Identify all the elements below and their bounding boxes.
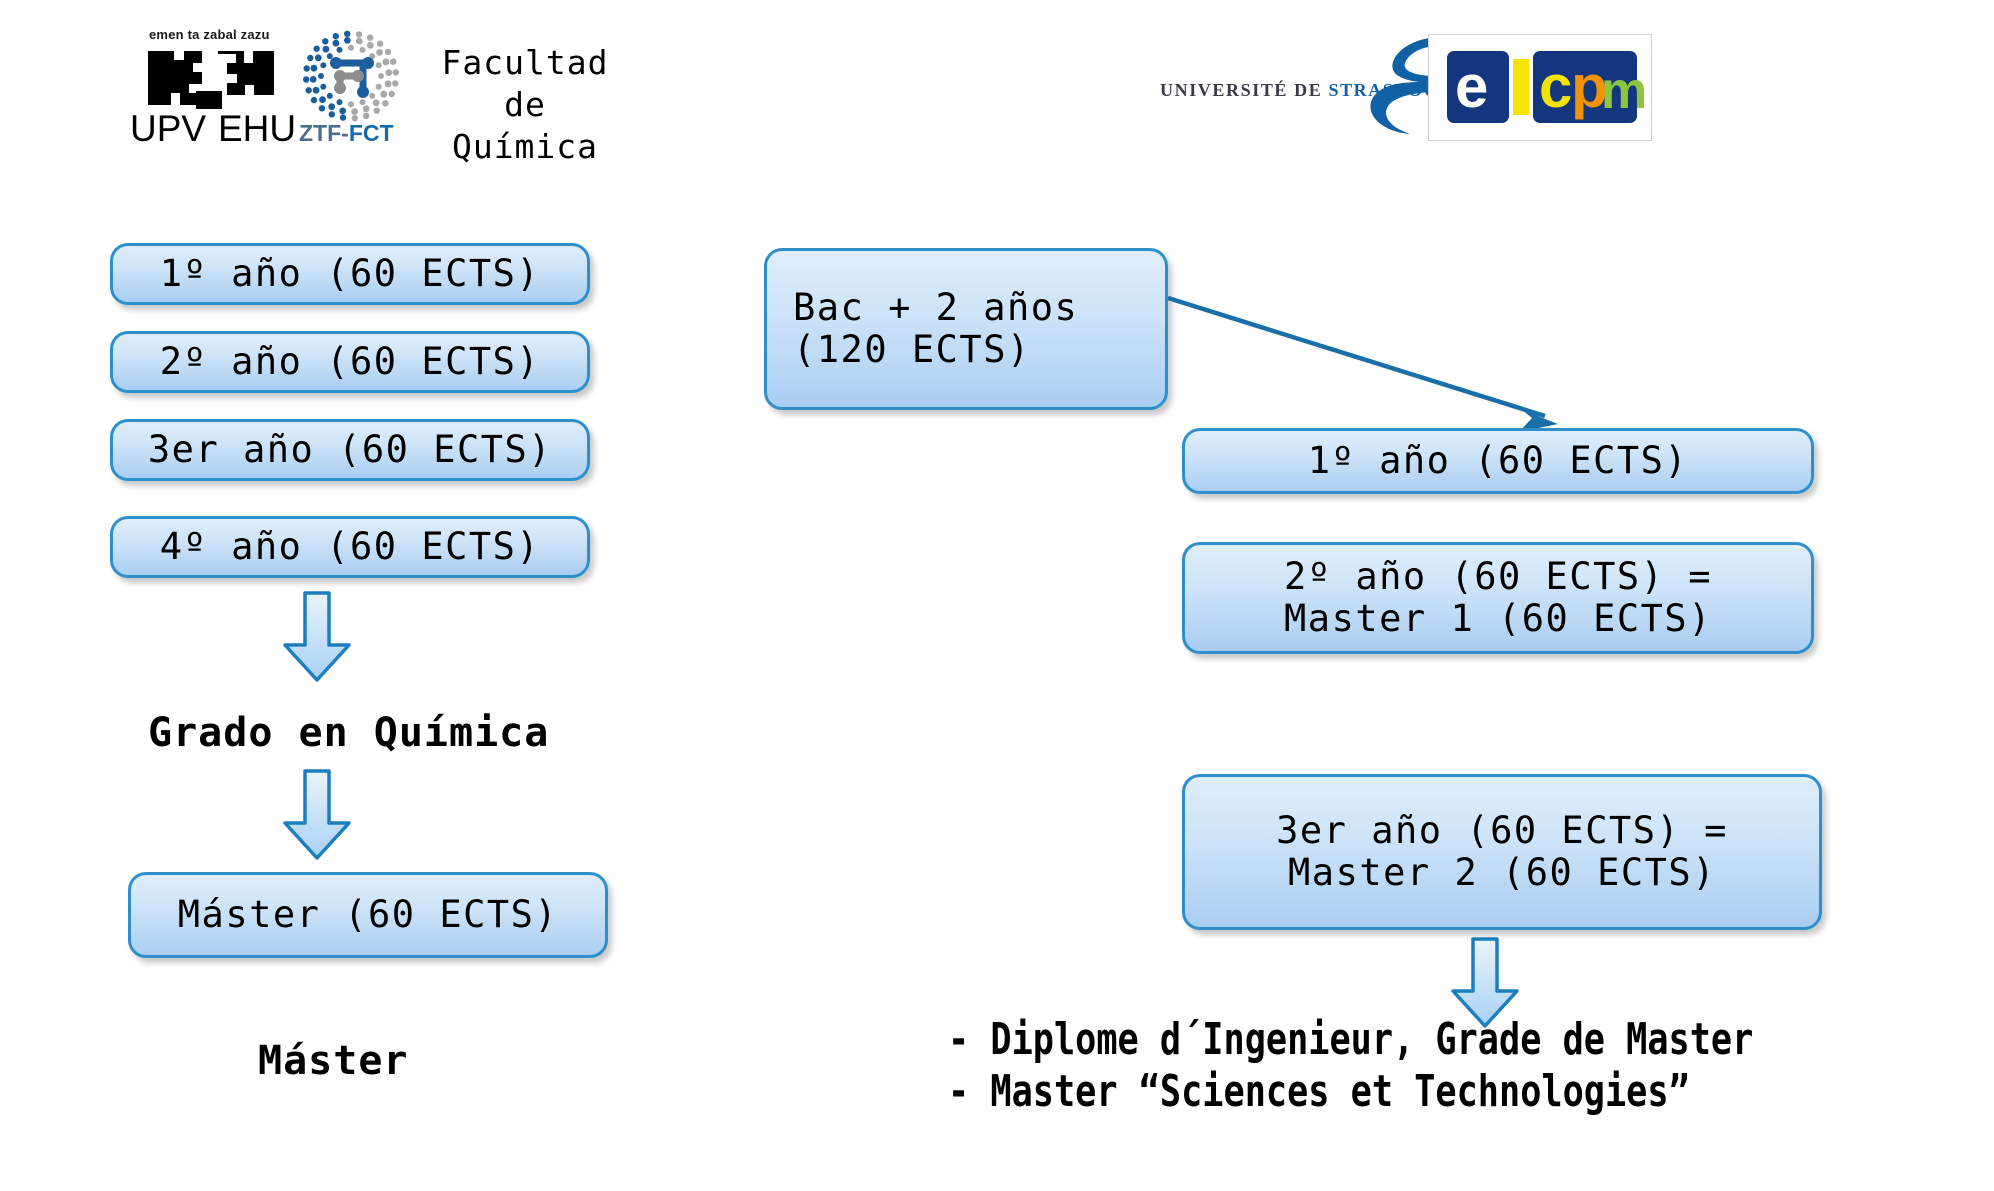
fct-text: FCT xyxy=(349,120,394,146)
degree-label: Grado en Química xyxy=(148,710,549,756)
ehu-label: EHU xyxy=(218,108,296,150)
upv-ehu-puzzle-icon xyxy=(144,47,278,113)
upv-label: UPV xyxy=(130,108,206,150)
ecpm-letter-m: m xyxy=(1601,65,1647,117)
outcome-line-1: - Diplome d´Ingenieur, Grade de Master xyxy=(948,1014,1753,1065)
ecpm-yellow-bar xyxy=(1513,59,1529,115)
master-caption: Máster xyxy=(258,1038,409,1084)
faculty-title: Facultad de Química xyxy=(420,42,630,169)
ztf-sep: - xyxy=(341,120,349,146)
ztf-text: ZTF xyxy=(299,120,341,146)
left-year-box-1: 1º año (60 ECTS) xyxy=(110,243,590,305)
left-year-box-4: 4º año (60 ECTS) xyxy=(110,516,590,578)
unistra-plain-text: UNIVERSITÉ DE xyxy=(1160,80,1328,100)
ztf-fct-logo: ZTF-FCT xyxy=(295,26,407,148)
ztf-fct-caption: ZTF-FCT xyxy=(299,120,394,147)
ecpm-letter-e: e xyxy=(1455,57,1488,117)
left-arrow-to-degree xyxy=(280,590,354,684)
unistra-logo: UNIVERSITÉ DE STRASBOURG xyxy=(1160,30,1450,140)
right-year-box-1: 1º año (60 ECTS) xyxy=(1182,428,1814,494)
ztf-fct-dotted-circle-icon xyxy=(295,26,407,126)
upv-ehu-logo: emen ta zabal zazu UPV EHU xyxy=(132,22,290,148)
ecpm-logo: e c p m xyxy=(1428,34,1652,141)
ecpm-letter-c: c xyxy=(1539,57,1572,117)
right-year-box-3: 3er año (60 ECTS) = Master 2 (60 ECTS) xyxy=(1182,774,1822,930)
right-connector-arrow xyxy=(1160,290,1580,450)
right-entry-box: Bac + 2 años (120 ECTS) xyxy=(764,248,1168,410)
left-arrow-to-master xyxy=(280,768,354,862)
left-year-box-3: 3er año (60 ECTS) xyxy=(110,419,590,481)
left-year-box-2: 2º año (60 ECTS) xyxy=(110,331,590,393)
outcome-line-2: - Master “Sciences et Technologies” xyxy=(948,1066,1690,1117)
left-master-box: Máster (60 ECTS) xyxy=(128,872,608,958)
unistra-wordmark: UNIVERSITÉ DE STRASBOURG xyxy=(1160,80,1468,101)
upv-ehu-motto: emen ta zabal zazu xyxy=(149,27,270,42)
right-year-box-2: 2º año (60 ECTS) = Master 1 (60 ECTS) xyxy=(1182,542,1814,654)
